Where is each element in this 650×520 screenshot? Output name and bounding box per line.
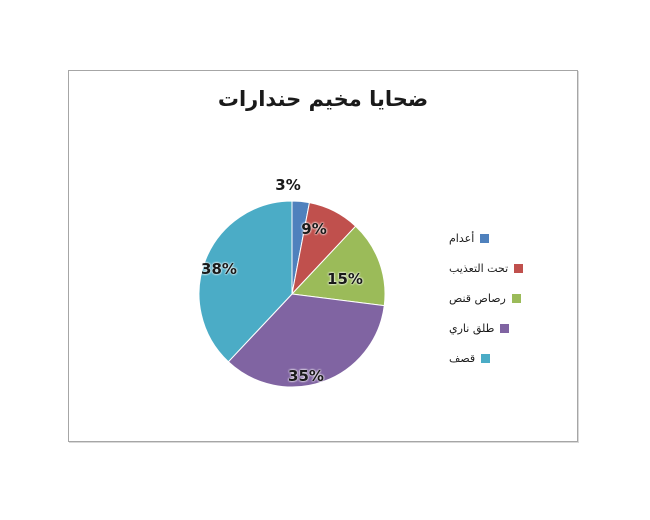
pie-slice-label-3: 35% (288, 367, 324, 385)
pie-slice-label-4: 38% (201, 260, 237, 278)
legend-item-sniper-bullet[interactable]: رصاص قنص (449, 283, 569, 313)
legend-item-label: قصف (449, 353, 475, 364)
legend-color-swatch (500, 324, 509, 333)
legend-item-under-torture[interactable]: تحت التعذيب (449, 253, 569, 283)
legend-item-gunshot[interactable]: طلق ناري (449, 313, 569, 343)
page-title: ضحايا مخيم حندارات (69, 87, 577, 111)
legend-item-label: رصاص قنص (449, 293, 506, 304)
pie-slice-label-1: 9% (301, 220, 326, 238)
legend-item-shelling[interactable]: قصف (449, 343, 569, 373)
legend-color-swatch (481, 354, 490, 363)
legend-color-swatch (512, 294, 521, 303)
legend-item-label: طلق ناري (449, 323, 494, 334)
legend-color-swatch (514, 264, 523, 273)
chart-legend: أعدام تحت التعذيب رصاص قنص طلق ناري قصف (449, 223, 569, 373)
legend-color-swatch (480, 234, 489, 243)
chart-frame: ضحايا مخيم حندارات 3% 9% 15% 35% 38% أعد… (68, 70, 578, 442)
pie-slice-label-2: 15% (327, 270, 363, 288)
legend-item-label: تحت التعذيب (449, 263, 508, 274)
legend-item-execution[interactable]: أعدام (449, 223, 569, 253)
pie-chart (197, 199, 387, 389)
pie-chart-svg (197, 199, 387, 389)
pie-slice-label-0: 3% (275, 176, 300, 194)
legend-item-label: أعدام (449, 233, 474, 244)
